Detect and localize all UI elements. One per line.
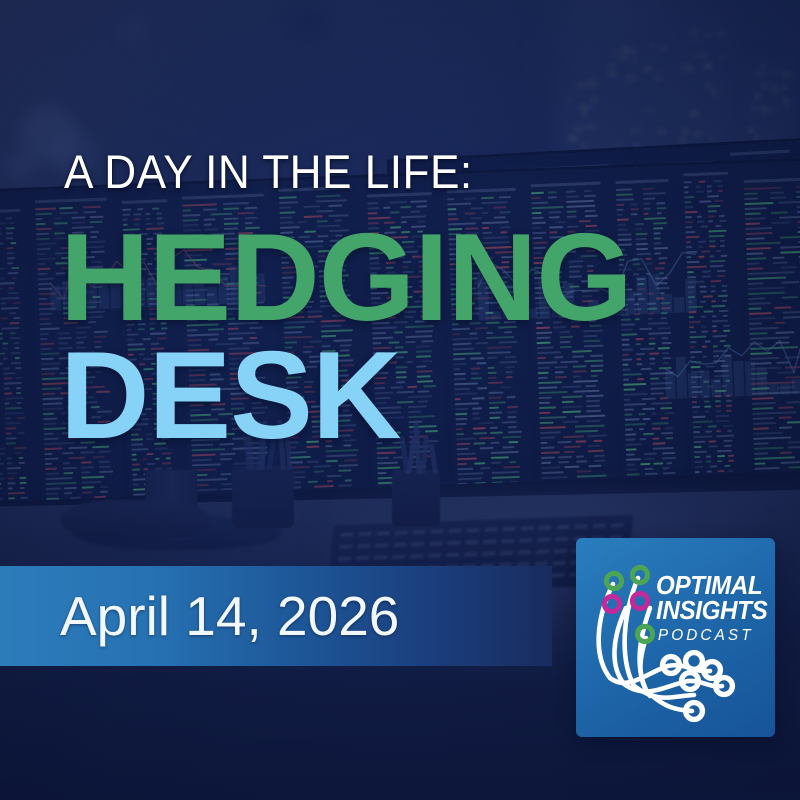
logo-line-1: OPTIMAL xyxy=(656,574,768,599)
logo-line-3: PODCAST xyxy=(656,628,769,644)
episode-kicker: A DAY IN THE LIFE: xyxy=(64,148,473,195)
episode-title-line-2: DESK xyxy=(60,334,401,458)
episode-date: April 14, 2026 xyxy=(60,583,399,649)
logo-line-2: INSIGHTS xyxy=(656,599,768,624)
podcast-episode-cover: A DAY IN THE LIFE: HEDGING DESK April 14… xyxy=(0,0,800,800)
podcast-logo[interactable]: OPTIMAL INSIGHTS PODCAST xyxy=(576,538,775,737)
episode-title-line-1: HEDGING xyxy=(60,216,632,340)
logo-wordmark: OPTIMAL INSIGHTS PODCAST xyxy=(656,574,774,644)
